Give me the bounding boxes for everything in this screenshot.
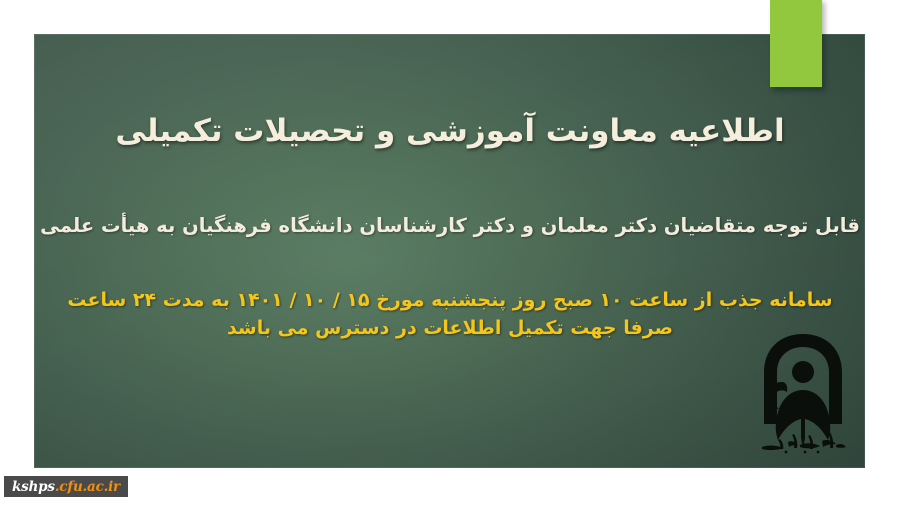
announcement-slide: اطلاعیه معاونت آموزشی و تحصیلات تکمیلی ق… <box>0 0 900 506</box>
accent-bar-decoration <box>770 0 822 87</box>
farhangian-university-logo-icon <box>748 328 858 456</box>
content-panel <box>34 34 865 468</box>
url-site-name: kshps <box>12 479 55 495</box>
notice-line-1: سامانه جذب از ساعت ۱۰ صبح روز پنجشنبه مو… <box>0 287 900 315</box>
site-url-badge[interactable]: kshps.cfu.ac.ir <box>4 476 128 497</box>
page-title: اطلاعیه معاونت آموزشی و تحصیلات تکمیلی <box>0 112 900 151</box>
subtitle-text: قابل توجه متقاضیان دکتر معلمان و دکتر کا… <box>0 213 900 238</box>
url-domain: .cfu.ac.ir <box>55 479 120 495</box>
